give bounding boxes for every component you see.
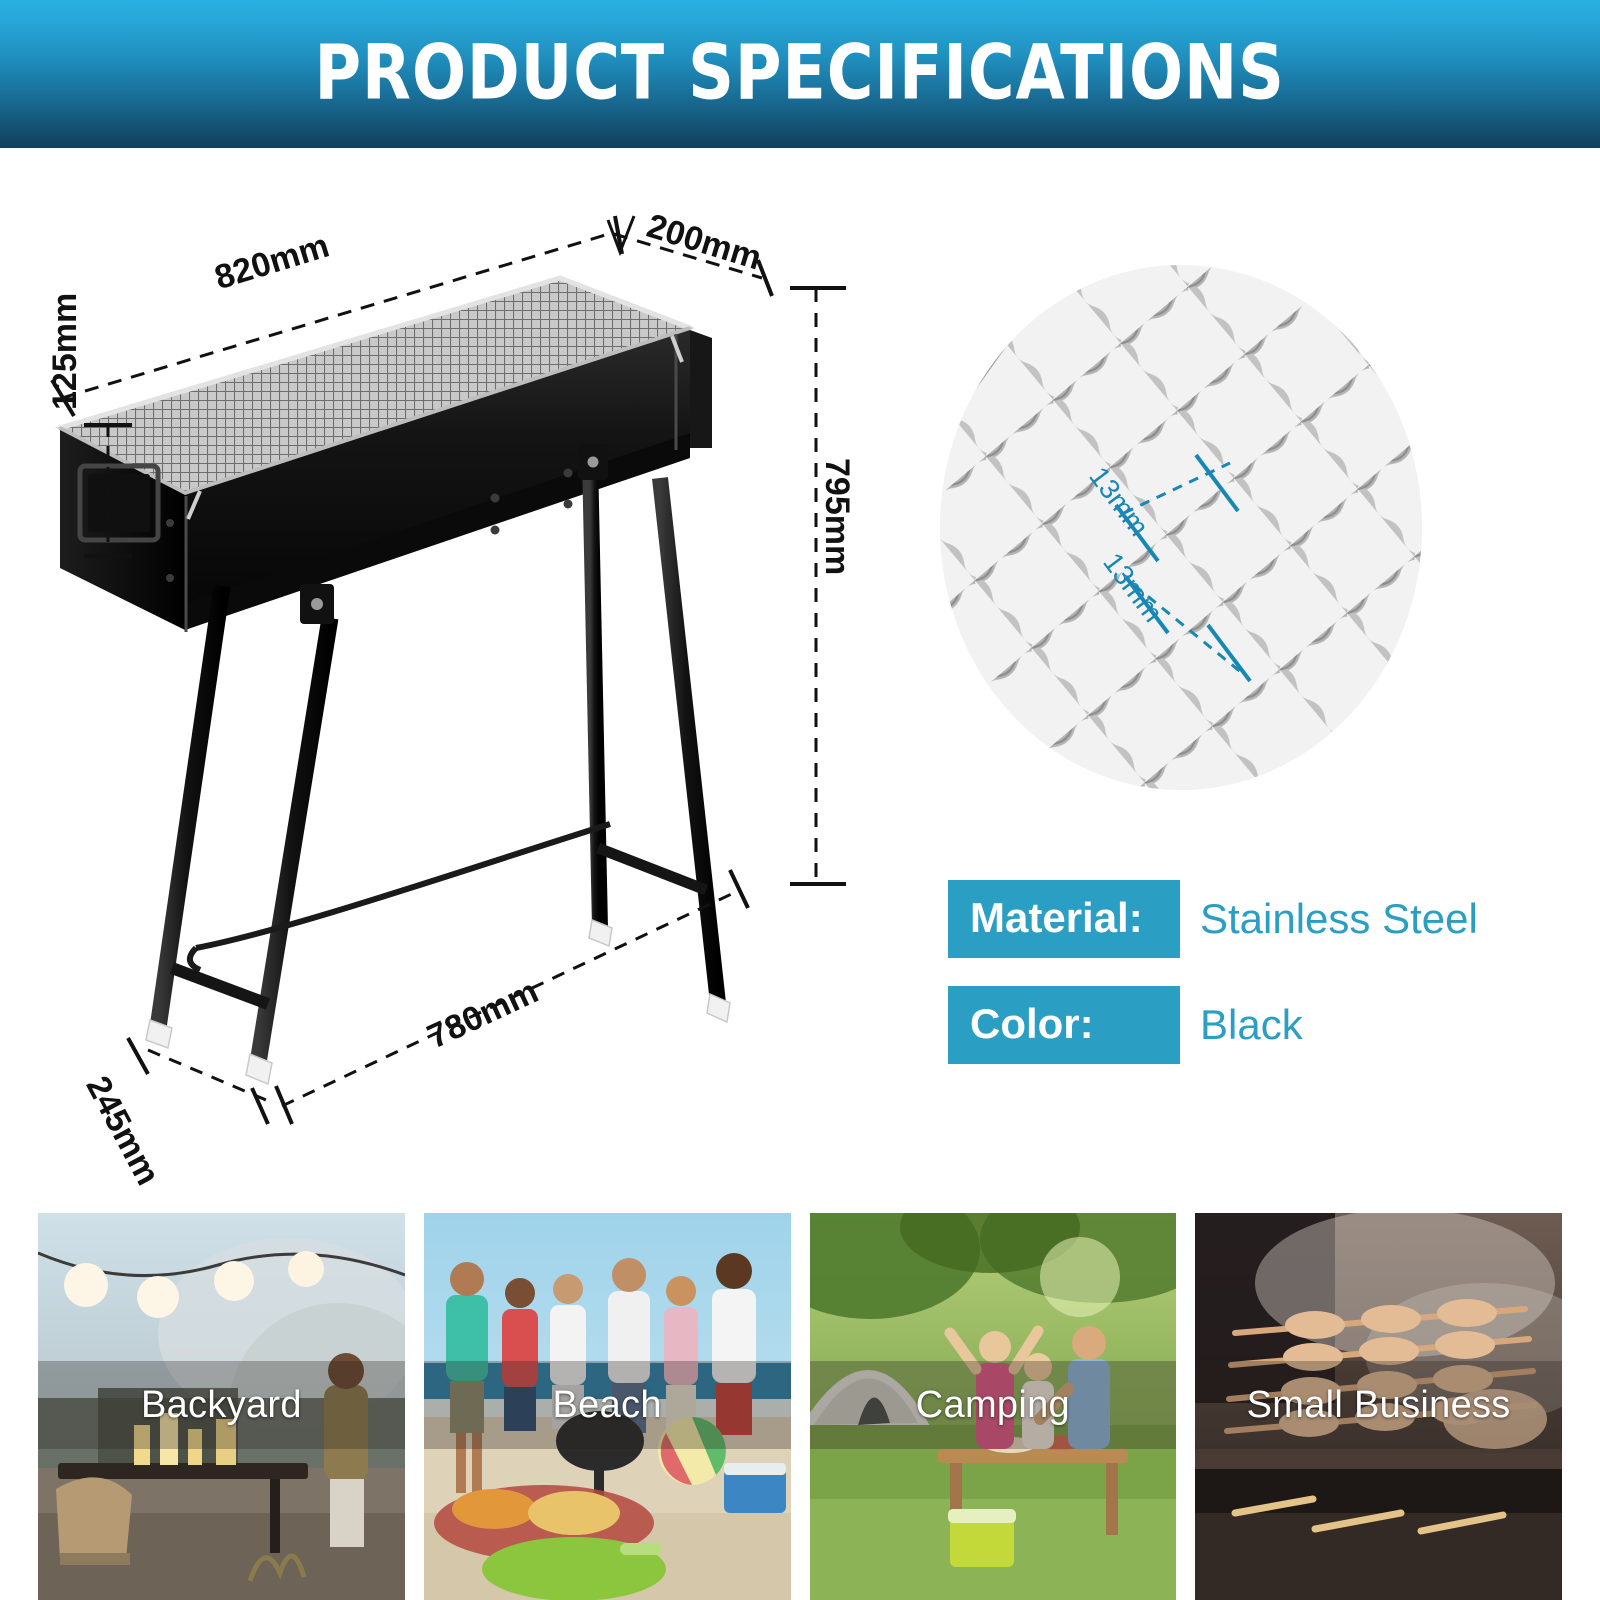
- wire-mesh-pattern: [940, 265, 1422, 790]
- spec-value-color: Black: [1180, 1001, 1303, 1049]
- scene-caption-beach: Beach: [424, 1361, 791, 1449]
- page-title-text: PRODUCT SPECIFICATIONS: [315, 28, 1285, 117]
- grill-illustration: [0, 148, 920, 1208]
- scene-caption-small-business: Small Business: [1195, 1361, 1562, 1449]
- dimension-label-total-height: 795mm: [817, 458, 856, 575]
- dimension-label-box-height: 125mm: [46, 293, 85, 410]
- spec-key-material: Material:: [948, 880, 1180, 958]
- mesh-detail-closeup: 13mm 13mm: [940, 265, 1422, 790]
- scene-caption-camping: Camping: [810, 1361, 1177, 1449]
- specification-list: Material: Stainless Steel Color: Black: [948, 880, 1548, 1092]
- scene-card-camping[interactable]: Camping: [810, 1213, 1177, 1600]
- spec-value-material: Stainless Steel: [1180, 895, 1478, 943]
- product-diagram: 820mm 200mm 125mm 795mm 780mm 245mm: [0, 148, 920, 1208]
- spec-key-color: Color:: [948, 986, 1180, 1064]
- scene-card-backyard[interactable]: Backyard: [38, 1213, 405, 1600]
- side-handle: [80, 466, 158, 540]
- page-title: PRODUCT SPECIFICATIONS: [0, 28, 1600, 117]
- spec-row-material: Material: Stainless Steel: [948, 880, 1548, 958]
- scene-caption-backyard: Backyard: [38, 1361, 405, 1449]
- scene-card-small-business[interactable]: Small Business: [1195, 1213, 1562, 1600]
- usage-scenario-gallery: Backyard: [38, 1213, 1562, 1600]
- scene-card-beach[interactable]: Beach: [424, 1213, 791, 1600]
- spec-row-color: Color: Black: [948, 986, 1548, 1064]
- product-specification-page: PRODUCT SPECIFICATIONS: [0, 0, 1600, 1600]
- header-banner: PRODUCT SPECIFICATIONS: [0, 0, 1600, 148]
